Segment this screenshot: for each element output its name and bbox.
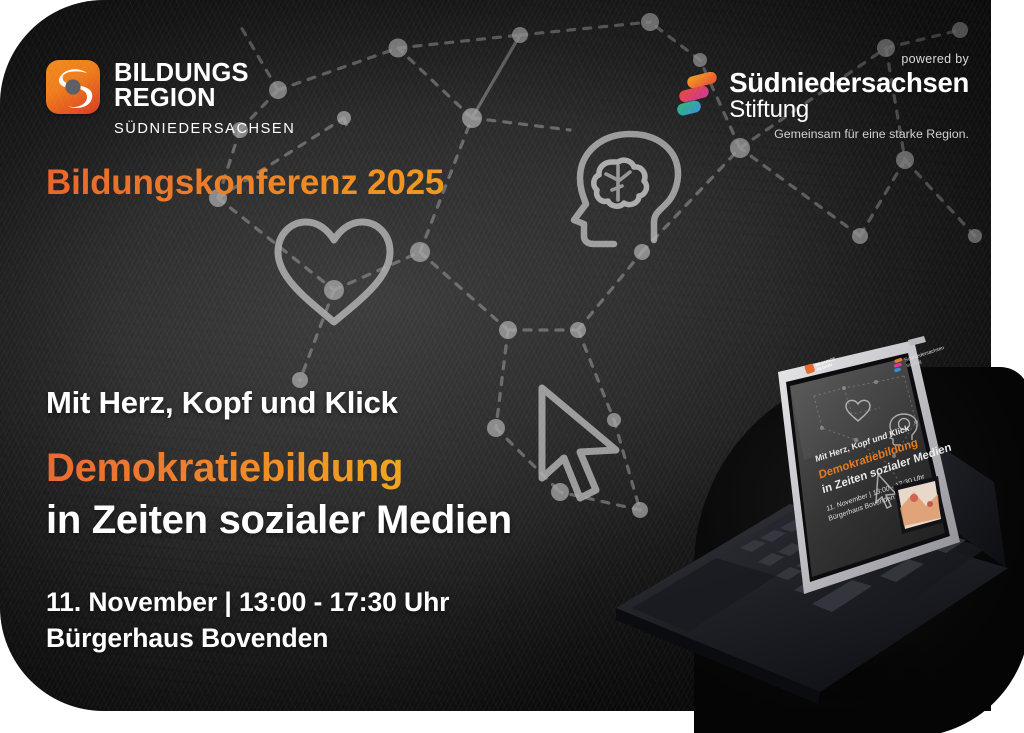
event-date-time: 11. November | 13:00 - 17:30 Uhr: [46, 587, 449, 618]
bildungsregion-swirl-mark: [46, 60, 100, 114]
partner-logo-claim: Gemeinsam für eine starke Region.: [677, 127, 969, 141]
suedniedersachsen-stiftung-mark: [677, 72, 719, 116]
event-venue: Bürgerhaus Bovenden: [46, 623, 328, 654]
organizer-logo-subline: SÜDNIEDERSACHSEN: [114, 121, 295, 137]
organizer-logo-line1: BILDUNGS: [114, 61, 295, 86]
partner-logo-line1: Südniedersachsen: [729, 69, 969, 97]
tablet-stylus: [908, 336, 926, 346]
powered-by-label: powered by: [677, 52, 969, 66]
poster-root: BILDUNGS REGION SÜDNIEDERSACHSEN powered…: [0, 0, 1024, 733]
poster-title-rest: in Zeiten sozialer Medien: [46, 498, 512, 543]
heart-icon: [268, 214, 400, 330]
partner-logo-line2: Stiftung: [729, 97, 969, 122]
poster-kicker: Mit Herz, Kopf und Klick: [46, 385, 398, 421]
organizer-logo-line2: REGION: [114, 86, 295, 111]
tablet-with-keyboard: Südniedersachsen Stiftung BILDUNGS REGIO…: [608, 336, 1024, 716]
event-label: Bildungskonferenz 2025: [46, 163, 444, 203]
head-brain-icon: [556, 128, 684, 248]
poster-title-highlight: Demokratiebildung: [46, 446, 403, 491]
organizer-logo: BILDUNGS REGION SÜDNIEDERSACHSEN: [46, 60, 295, 137]
partner-logo: powered by: [677, 52, 969, 141]
